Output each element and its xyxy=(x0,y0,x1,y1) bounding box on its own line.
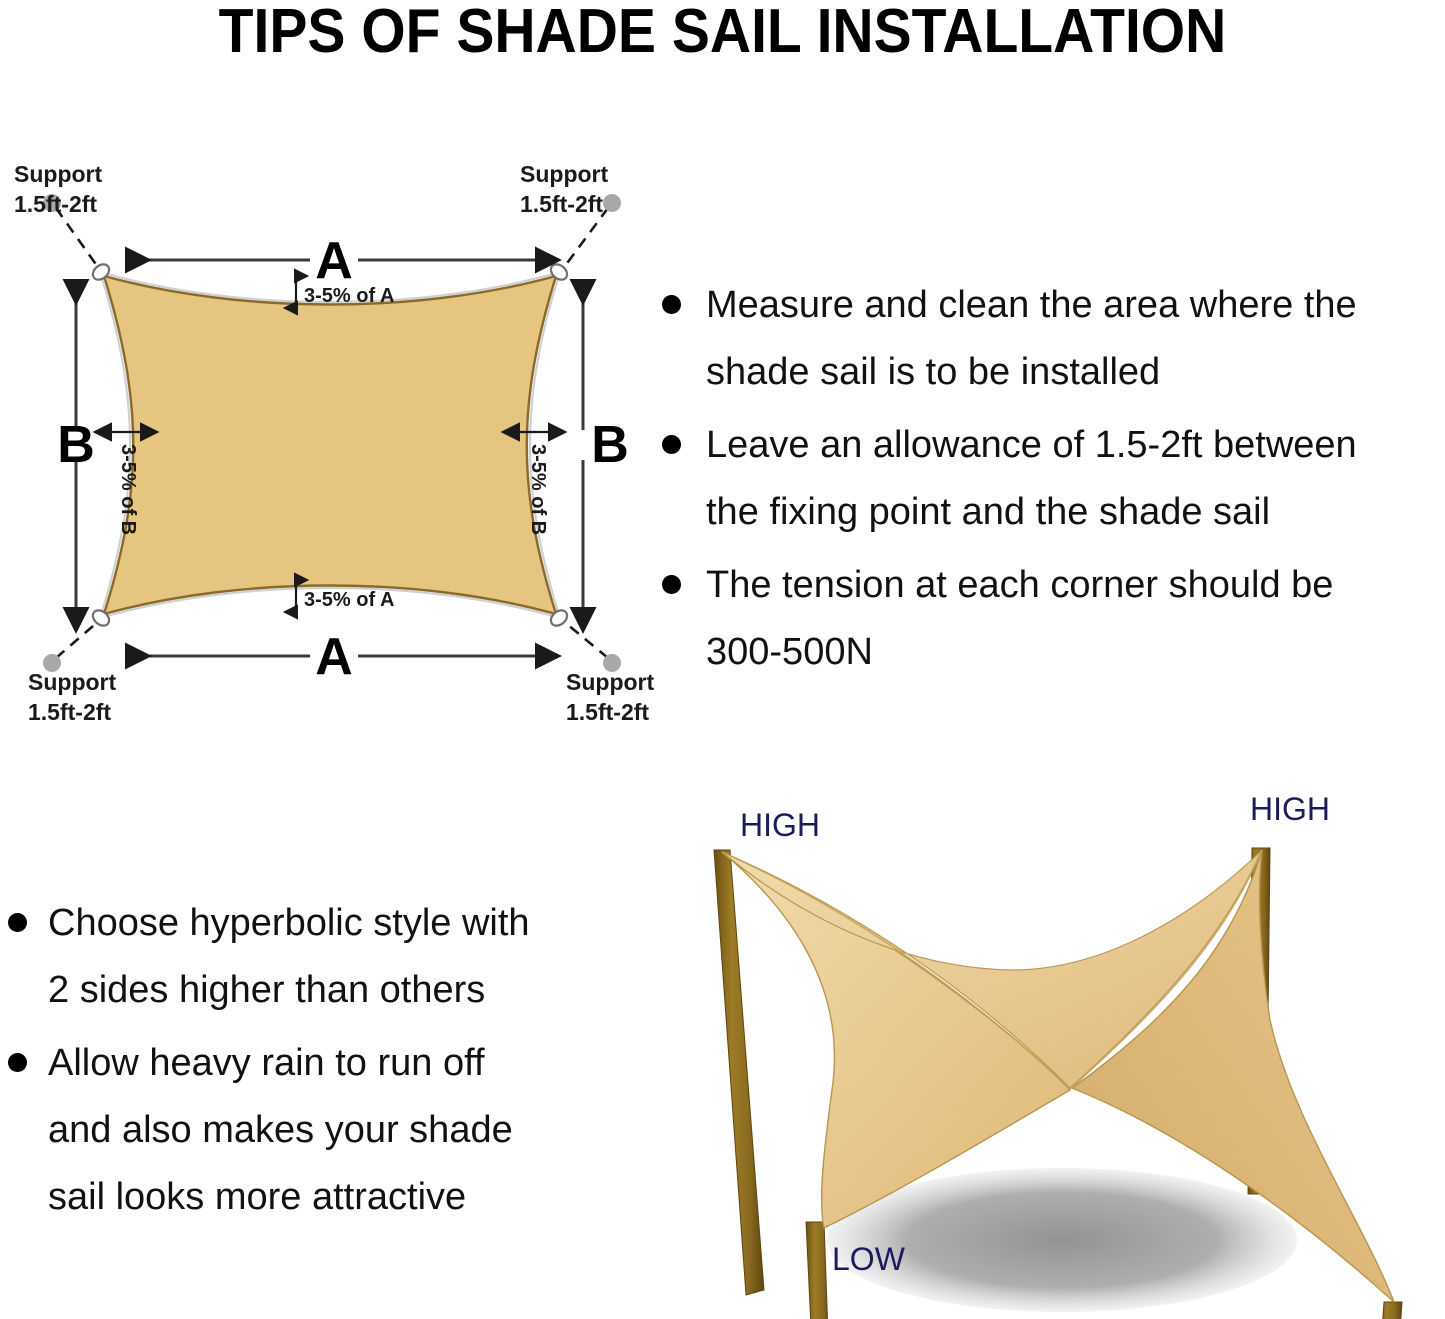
support-top-right-value: 1.5ft-2ft xyxy=(520,191,603,217)
hyperbolic-sail-illustration: HIGH HIGH LOW LOW xyxy=(672,790,1445,1319)
list-item: Allow heavy rain to run off and also mak… xyxy=(0,1030,640,1231)
tip-line: The tension at each corner should be xyxy=(706,552,1445,619)
page-title: TIPS OF SHADE SAIL INSTALLATION xyxy=(58,0,1387,70)
tip-line: 300-500N xyxy=(706,619,1445,686)
curvature-label-top: 3-5% of A xyxy=(304,285,394,307)
dimension-label-b-right: B xyxy=(591,416,629,474)
label-low-left: LOW xyxy=(832,1241,906,1277)
tip-line: Leave an allowance of 1.5-2ft between xyxy=(706,412,1445,479)
sail-body xyxy=(104,276,556,614)
tip-line: the fixing point and the shade sail xyxy=(706,479,1445,546)
curvature-label-bottom: 3-5% of A xyxy=(304,589,394,611)
rectangular-sail-diagram: A A B B 3-5% of A xyxy=(0,160,660,740)
style-tip-line: Allow heavy rain to run off xyxy=(48,1030,640,1097)
label-high-left: HIGH xyxy=(740,807,820,843)
style-tip-line: sail looks more attractive xyxy=(48,1164,640,1231)
support-bottom-left-value: 1.5ft-2ft xyxy=(28,699,111,725)
dimension-label-b-left: B xyxy=(57,416,95,474)
installation-tips-list: Measure and clean the area where the sha… xyxy=(648,272,1445,692)
support-bottom-right-title: Support xyxy=(566,669,654,695)
style-tip-line: Choose hyperbolic style with xyxy=(48,890,640,957)
support-bottom-left-title: Support xyxy=(28,669,116,695)
list-item: Leave an allowance of 1.5-2ft between th… xyxy=(648,412,1445,546)
post-high-left xyxy=(714,850,764,1295)
infographic-page: TIPS OF SHADE SAIL INSTALLATION xyxy=(0,0,1445,1319)
support-top-left-title: Support xyxy=(14,161,102,187)
post-low-right xyxy=(1378,1302,1402,1319)
style-tip-line: 2 sides higher than others xyxy=(48,957,640,1024)
style-tips-list: Choose hyperbolic style with 2 sides hig… xyxy=(0,890,640,1237)
dimension-label-a-top: A xyxy=(315,232,353,290)
tip-line: Measure and clean the area where the xyxy=(706,272,1445,339)
curvature-label-right: 3-5% of B xyxy=(527,444,549,535)
support-bottom-right-value: 1.5ft-2ft xyxy=(566,699,649,725)
post-low-left xyxy=(806,1222,830,1319)
support-top-right-title: Support xyxy=(520,161,608,187)
dimension-label-a-bottom: A xyxy=(315,628,353,686)
list-item: Choose hyperbolic style with 2 sides hig… xyxy=(0,890,640,1024)
tip-line: shade sail is to be installed xyxy=(706,339,1445,406)
style-tip-line: and also makes your shade xyxy=(48,1097,640,1164)
label-high-right: HIGH xyxy=(1250,791,1330,827)
list-item: Measure and clean the area where the sha… xyxy=(648,272,1445,406)
curvature-label-left: 3-5% of B xyxy=(117,444,139,535)
list-item: The tension at each corner should be 300… xyxy=(648,552,1445,686)
support-top-left-value: 1.5ft-2ft xyxy=(14,191,97,217)
